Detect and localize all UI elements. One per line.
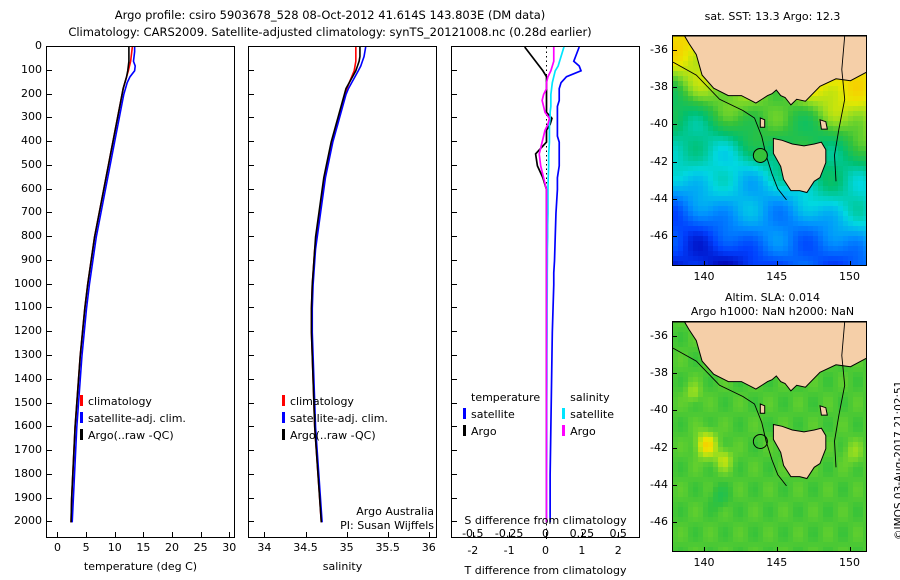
- axis-tick-mark: [248, 94, 254, 95]
- axis-tick-mark: [248, 450, 254, 451]
- sla-map-image: [673, 322, 867, 552]
- latitude-tick-label: -36: [632, 43, 668, 56]
- axis-tick-mark: [704, 261, 705, 266]
- axis-tick-mark: [248, 498, 254, 499]
- legend-color-swatch: [562, 425, 565, 436]
- difference-legend: temperaturesatelliteArgosalinitysatellit…: [463, 390, 614, 439]
- axis-tick-mark: [672, 485, 677, 486]
- legend-color-swatch: [80, 412, 83, 423]
- longitude-tick-label: 140: [679, 556, 729, 569]
- legend-item: climatology: [282, 392, 388, 409]
- sst-map-panel: [672, 35, 867, 266]
- sla-map-panel: [672, 321, 867, 552]
- salinity-profile-plot: [249, 47, 438, 539]
- legend-item: Argo(..raw -QC): [80, 426, 186, 443]
- legend-label: satellite-adj. clim.: [88, 412, 186, 425]
- depth-tick-label: 1700: [2, 443, 42, 456]
- depth-tick-label: 1600: [2, 419, 42, 432]
- axis-tick-mark: [46, 284, 52, 285]
- longitude-tick-label: 150: [825, 556, 875, 569]
- axis-tick-mark: [672, 336, 677, 337]
- latitude-tick-label: -46: [632, 229, 668, 242]
- axis-tick-mark: [451, 307, 457, 308]
- legend-label: Argo: [570, 425, 596, 438]
- axis-tick-mark: [618, 532, 619, 538]
- axis-tick-mark: [46, 426, 52, 427]
- legend-header: salinity: [570, 390, 614, 405]
- legend-label: satellite: [570, 408, 614, 421]
- axis-tick-mark: [248, 46, 254, 47]
- longitude-tick-label: 140: [679, 270, 729, 283]
- axis-tick-mark: [46, 498, 52, 499]
- latitude-tick-label: -44: [632, 192, 668, 205]
- axis-tick-mark: [850, 547, 851, 552]
- axis-tick-mark: [451, 498, 457, 499]
- axis-tick-mark: [451, 165, 457, 166]
- depth-tick-label: 1800: [2, 467, 42, 480]
- difference-curve: [550, 47, 581, 522]
- axis-tick-mark: [672, 236, 677, 237]
- latitude-tick-label: -38: [632, 366, 668, 379]
- axis-tick-mark: [451, 284, 457, 285]
- salinity-axis-label: salinity: [248, 560, 437, 573]
- latitude-tick-label: -42: [632, 155, 668, 168]
- axis-tick-mark: [264, 532, 265, 538]
- axis-tick-mark: [451, 117, 457, 118]
- temperature-profile-plot: [47, 47, 236, 539]
- axis-tick-mark: [248, 70, 254, 71]
- axis-tick-mark: [451, 474, 457, 475]
- axis-tick-mark: [46, 379, 52, 380]
- axis-tick-mark: [509, 532, 510, 538]
- float-position-marker: [753, 148, 767, 162]
- latitude-tick-label: -40: [632, 117, 668, 130]
- figure-title-line1: Argo profile: csiro 5903678_528 08-Oct-2…: [0, 8, 660, 22]
- axis-tick-mark: [143, 532, 144, 538]
- legend-item: climatology: [80, 392, 186, 409]
- axis-tick-mark: [672, 87, 677, 88]
- legend-color-swatch: [463, 408, 466, 419]
- axis-tick-mark: [672, 373, 677, 374]
- axis-tick-mark: [451, 189, 457, 190]
- legend-item: satellite-adj. clim.: [80, 409, 186, 426]
- depth-tick-label: 600: [2, 182, 42, 195]
- salinity-profile-panel: [248, 46, 437, 538]
- legend-header: temperature: [471, 390, 540, 405]
- profile-curve: [72, 47, 135, 522]
- legend-item: Argo(..raw -QC): [282, 426, 388, 443]
- latitude-tick-label: -44: [632, 478, 668, 491]
- axis-tick-mark: [248, 426, 254, 427]
- latitude-tick-label: -40: [632, 403, 668, 416]
- profile-curve: [311, 47, 355, 522]
- profile-curve: [71, 47, 129, 522]
- legend-label: climatology: [290, 395, 354, 408]
- axis-tick-mark: [46, 236, 52, 237]
- legend-label: climatology: [88, 395, 152, 408]
- sst-map-title: sat. SST: 13.3 Argo: 12.3: [660, 10, 885, 23]
- axis-tick-label: 2: [588, 544, 648, 557]
- copyright-text: ©IMOS 03-Aug-2017 21:02:51: [893, 540, 900, 552]
- axis-tick-mark: [248, 355, 254, 356]
- axis-tick-mark: [46, 46, 52, 47]
- axis-tick-mark: [672, 410, 677, 411]
- depth-tick-label: 1300: [2, 348, 42, 361]
- axis-tick-mark: [248, 379, 254, 380]
- axis-tick-mark: [777, 547, 778, 552]
- pi-annotation: PI: Susan Wijffels: [297, 519, 434, 532]
- axis-tick-mark: [46, 355, 52, 356]
- difference-profile-panel: [451, 46, 640, 538]
- legend-label: Argo(..raw -QC): [88, 429, 174, 442]
- axis-tick-mark: [451, 379, 457, 380]
- axis-tick-mark: [451, 70, 457, 71]
- axis-tick-mark: [248, 236, 254, 237]
- axis-tick-mark: [172, 532, 173, 538]
- legend-color-swatch: [80, 395, 83, 406]
- axis-tick-mark: [201, 532, 202, 538]
- axis-tick-mark: [248, 212, 254, 213]
- salinity-legend: climatologysatellite-adj. clim.Argo(..ra…: [282, 392, 388, 443]
- axis-tick-mark: [46, 260, 52, 261]
- latitude-tick-label: -42: [632, 441, 668, 454]
- depth-tick-label: 500: [2, 158, 42, 171]
- axis-tick-mark: [672, 124, 677, 125]
- axis-tick-mark: [248, 260, 254, 261]
- longitude-tick-label: 145: [752, 556, 802, 569]
- axis-tick-mark: [46, 94, 52, 95]
- longitude-tick-label: 150: [825, 270, 875, 283]
- axis-tick-mark: [248, 521, 254, 522]
- legend-item: satellite-adj. clim.: [282, 409, 388, 426]
- legend-item: satellite: [562, 405, 614, 422]
- axis-tick-mark: [248, 474, 254, 475]
- axis-tick-mark: [229, 532, 230, 538]
- axis-tick-mark: [46, 117, 52, 118]
- difference-temperature-axis-label: T difference from climatology: [446, 564, 645, 577]
- legend-label: Argo: [471, 425, 497, 438]
- axis-tick-mark: [388, 532, 389, 538]
- sla-map-title-line1: Altim. SLA: 0.014: [660, 291, 885, 304]
- axis-tick-mark: [46, 70, 52, 71]
- axis-tick-mark: [672, 448, 677, 449]
- axis-tick-mark: [248, 141, 254, 142]
- axis-tick-mark: [46, 521, 52, 522]
- axis-tick-mark: [306, 532, 307, 538]
- latitude-tick-label: -36: [632, 329, 668, 342]
- axis-tick-mark: [46, 450, 52, 451]
- depth-tick-label: 700: [2, 205, 42, 218]
- axis-tick-mark: [248, 403, 254, 404]
- axis-tick-mark: [248, 284, 254, 285]
- axis-tick-mark: [473, 532, 474, 538]
- axis-tick-mark: [777, 261, 778, 266]
- axis-tick-mark: [347, 532, 348, 538]
- figure-title-line2: Climatology: CARS2009. Satellite-adjuste…: [0, 25, 660, 39]
- axis-tick-mark: [57, 532, 58, 538]
- axis-tick-mark: [46, 403, 52, 404]
- profile-curve: [71, 47, 132, 522]
- depth-tick-label: 900: [2, 253, 42, 266]
- axis-tick-mark: [46, 331, 52, 332]
- axis-tick-mark: [248, 189, 254, 190]
- legend-item: Argo: [562, 422, 614, 439]
- axis-tick-mark: [86, 532, 87, 538]
- depth-tick-label: 1100: [2, 300, 42, 313]
- axis-tick-mark: [451, 450, 457, 451]
- sst-map-image: [673, 36, 867, 266]
- axis-tick-mark: [115, 532, 116, 538]
- argo-australia-annotation: Argo Australia: [297, 505, 434, 518]
- profile-curve: [311, 47, 359, 522]
- legend-color-swatch: [463, 425, 466, 436]
- depth-tick-label: 0: [2, 39, 42, 52]
- depth-tick-label: 800: [2, 229, 42, 242]
- axis-tick-mark: [451, 212, 457, 213]
- depth-tick-label: 1400: [2, 372, 42, 385]
- axis-tick-mark: [546, 532, 547, 538]
- legend-label: Argo(..raw -QC): [290, 429, 376, 442]
- legend-color-swatch: [562, 408, 565, 419]
- longitude-tick-label: 145: [752, 270, 802, 283]
- temperature-profile-panel: [46, 46, 235, 538]
- sla-map-title-line2: Argo h1000: NaN h2000: NaN: [655, 305, 890, 318]
- axis-tick-mark: [451, 94, 457, 95]
- depth-tick-label: 200: [2, 87, 42, 100]
- axis-tick-mark: [451, 426, 457, 427]
- legend-color-swatch: [282, 429, 285, 440]
- axis-tick-mark: [451, 236, 457, 237]
- king-island-coastline: [760, 118, 764, 127]
- legend-color-swatch: [80, 429, 83, 440]
- depth-tick-label: 1500: [2, 396, 42, 409]
- depth-tick-label: 1000: [2, 277, 42, 290]
- legend-label: satellite-adj. clim.: [290, 412, 388, 425]
- depth-tick-label: 1200: [2, 324, 42, 337]
- legend-column: salinitysatelliteArgo: [562, 390, 614, 439]
- axis-tick-mark: [248, 331, 254, 332]
- axis-tick-mark: [451, 355, 457, 356]
- axis-tick-mark: [451, 46, 457, 47]
- axis-tick-mark: [46, 474, 52, 475]
- legend-column: temperaturesatelliteArgo: [463, 390, 540, 439]
- difference-profile-plot: [452, 47, 641, 539]
- difference-salinity-axis-label: S difference from climatology: [451, 514, 640, 527]
- legend-color-swatch: [282, 412, 285, 423]
- legend-item: Argo: [463, 422, 540, 439]
- axis-tick-mark: [46, 165, 52, 166]
- axis-tick-mark: [451, 141, 457, 142]
- axis-tick-mark: [46, 141, 52, 142]
- axis-tick-mark: [248, 165, 254, 166]
- axis-tick-mark: [46, 307, 52, 308]
- axis-tick-mark: [672, 522, 677, 523]
- depth-tick-label: 300: [2, 110, 42, 123]
- axis-tick-mark: [850, 261, 851, 266]
- axis-tick-mark: [451, 331, 457, 332]
- axis-tick-mark: [46, 212, 52, 213]
- latitude-tick-label: -46: [632, 515, 668, 528]
- legend-item: satellite: [463, 405, 540, 422]
- axis-tick-mark: [248, 307, 254, 308]
- depth-tick-label: 1900: [2, 491, 42, 504]
- axis-tick-mark: [248, 117, 254, 118]
- legend-label: satellite: [471, 408, 515, 421]
- axis-tick-mark: [672, 50, 677, 51]
- axis-tick-mark: [451, 403, 457, 404]
- axis-tick-mark: [672, 199, 677, 200]
- latitude-tick-label: -38: [632, 80, 668, 93]
- axis-tick-mark: [704, 547, 705, 552]
- temperature-legend: climatologysatellite-adj. clim.Argo(..ra…: [80, 392, 186, 443]
- axis-tick-mark: [46, 189, 52, 190]
- axis-tick-mark: [451, 260, 457, 261]
- depth-tick-label: 400: [2, 134, 42, 147]
- axis-tick-mark: [672, 162, 677, 163]
- temperature-axis-label: temperature (deg C): [46, 560, 235, 573]
- axis-tick-mark: [582, 532, 583, 538]
- axis-tick-mark: [429, 532, 430, 538]
- king-island-coastline: [760, 404, 764, 413]
- depth-tick-label: 100: [2, 63, 42, 76]
- depth-tick-label: 2000: [2, 514, 42, 527]
- profile-curve: [312, 47, 365, 522]
- legend-color-swatch: [282, 395, 285, 406]
